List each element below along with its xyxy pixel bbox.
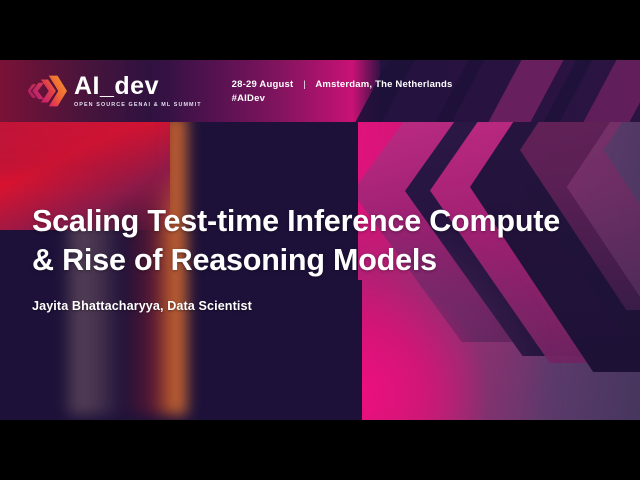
letterbox-bar-top — [0, 0, 640, 60]
letterbox-bar-bottom — [0, 420, 640, 480]
event-hashtag: #AIDev — [232, 92, 453, 106]
slide-header: AI_dev Open Source GenAI & ML Summit 28-… — [0, 60, 640, 122]
title-block: Scaling Test-time Inference Compute & Ri… — [32, 202, 592, 313]
event-location: Amsterdam, The Netherlands — [315, 79, 452, 90]
ai-dev-logo: AI_dev Open Source GenAI & ML Summit — [28, 74, 202, 108]
event-dates: 28-29 August — [232, 79, 294, 90]
slide-artwork: AI_dev Open Source GenAI & ML Summit 28-… — [0, 60, 640, 420]
speaker-name-and-role: Jayita Bhattacharyya, Data Scientist — [32, 299, 592, 313]
ai-dev-wordmark: AI_dev — [74, 74, 202, 99]
ai-dev-wordmark-block: AI_dev Open Source GenAI & ML Summit — [74, 74, 202, 108]
slide-title: Scaling Test-time Inference Compute & Ri… — [32, 202, 592, 280]
event-info: 28-29 August | Amsterdam, The Netherland… — [232, 76, 453, 106]
ai-dev-tagline: Open Source GenAI & ML Summit — [74, 102, 202, 108]
video-slide-frame: AI_dev Open Source GenAI & ML Summit 28-… — [0, 0, 640, 480]
slide-title-line-1: Scaling Test-time Inference Compute — [32, 204, 560, 238]
event-separator: | — [296, 78, 313, 92]
slide-title-line-2: & Rise of Reasoning Models — [32, 241, 592, 280]
event-date-location: 28-29 August | Amsterdam, The Netherland… — [232, 78, 453, 92]
ai-dev-chevron-logo-icon — [28, 74, 68, 108]
